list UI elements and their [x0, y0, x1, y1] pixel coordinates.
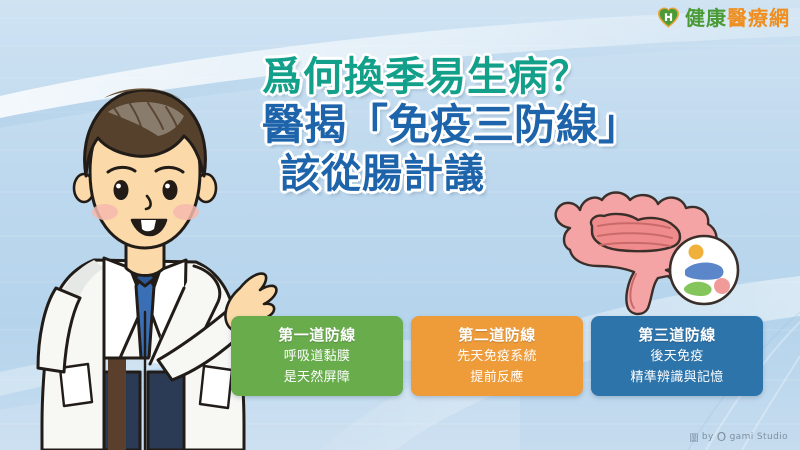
defence-card-1-sub-1: 呼吸道黏膜 — [284, 348, 351, 366]
defence-card-2: 第二道防線 先天免疫系統 提前反應 — [411, 316, 583, 396]
defence-card-2-sub-1: 先天免疫系統 — [457, 348, 537, 366]
infographic-canvas: 健康醫療網 — [0, 0, 800, 450]
credit-prefix: 圖 — [689, 431, 698, 444]
logo-text-primary: 健康 — [685, 6, 727, 30]
defence-card-3-title: 第三道防線 — [638, 326, 716, 345]
logo-text-secondary: 醫療網 — [727, 6, 790, 30]
defence-card-1: 第一道防線 呼吸道黏膜 是天然屏障 — [231, 316, 403, 396]
intestine-gut-microbiome-illustration — [540, 182, 740, 317]
defence-card-1-title: 第一道防線 — [278, 326, 356, 345]
defence-card-1-sub-2: 是天然屏障 — [284, 369, 351, 387]
headline-line-1: 爲何換季易生病？ — [262, 56, 692, 98]
headline-group: 爲何換季易生病？ 醫揭「免疫三防線」 該從腸計議 — [262, 56, 692, 195]
defence-card-3-sub-2: 精準辨識與記憶 — [630, 369, 723, 387]
headline-line-3: 該從腸計議 — [280, 153, 692, 195]
defence-card-3: 第三道防線 後天免疫 精準辨識與記憶 — [591, 316, 763, 396]
site-logo[interactable]: 健康醫療網 — [657, 6, 790, 29]
defence-card-3-sub-1: 後天免疫 — [650, 348, 703, 366]
defence-card-2-sub-2: 提前反應 — [470, 369, 523, 387]
image-credit: 圖 by O gami Studio — [689, 430, 788, 444]
headline-line-2: 醫揭「免疫三防線」 — [262, 103, 692, 147]
credit-studio-initial: O — [717, 430, 727, 444]
credit-studio-name: gami Studio — [730, 432, 788, 442]
defence-line-cards: 第一道防線 呼吸道黏膜 是天然屏障 第二道防線 先天免疫系統 提前反應 第三道防… — [231, 316, 763, 396]
credit-by: by — [702, 432, 714, 442]
green-heart-h-icon — [657, 6, 680, 29]
defence-card-2-title: 第二道防線 — [458, 326, 536, 345]
